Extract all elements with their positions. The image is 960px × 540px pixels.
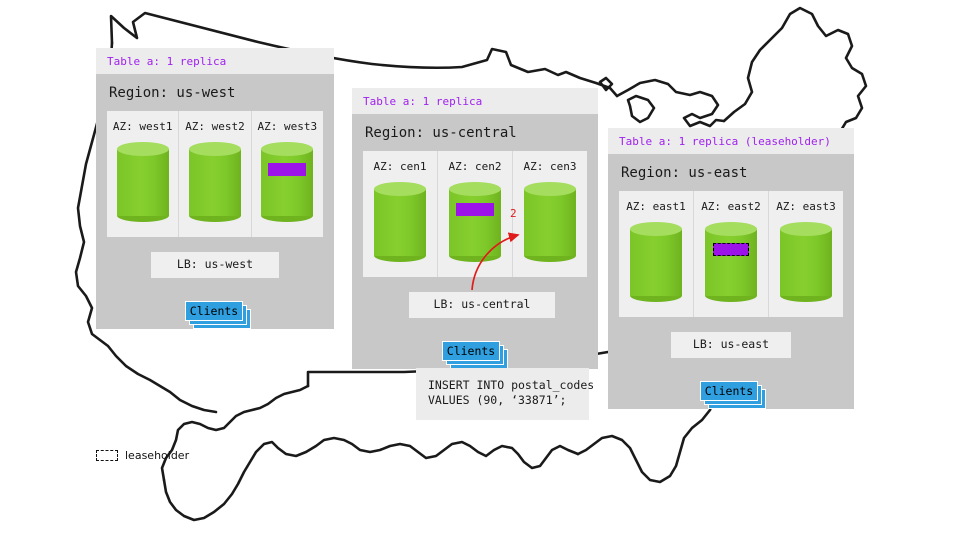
az-cell-cen2[interactable]: AZ: cen2 [438, 151, 513, 277]
region-panel-us-east: Table a: 1 replica (leaseholder) Region:… [608, 128, 854, 409]
cylinder-body [705, 229, 757, 296]
leaseholder-marker-east2 [713, 243, 749, 256]
az-cell-cen3[interactable]: AZ: cen3 [513, 151, 587, 277]
az-label: AZ: cen3 [513, 160, 587, 173]
cylinder-top [705, 222, 757, 236]
cylinder-body [117, 149, 169, 216]
az-strip-us-east: AZ: east1 AZ: east2 [619, 191, 843, 317]
node-cylinder-west2[interactable] [189, 142, 241, 222]
region-title: Region: us-central [352, 114, 598, 151]
arrow-step-label: 2 [510, 208, 517, 219]
az-label: AZ: east3 [769, 200, 843, 213]
az-strip-us-west: AZ: west1 AZ: west2 AZ [107, 111, 323, 237]
clients-button-us-west[interactable]: Clients [185, 301, 251, 329]
clients-button-us-central[interactable]: Clients [442, 341, 508, 369]
clients-button-us-east[interactable]: Clients [700, 381, 766, 409]
node-cylinder-east1[interactable] [630, 222, 682, 302]
cylinder-top [524, 182, 576, 196]
lb-label: LB: us-central [434, 299, 531, 311]
az-label: AZ: east1 [619, 200, 693, 213]
load-balancer-us-central[interactable]: LB: us-central [409, 292, 555, 318]
diagram-canvas: leaseholder Table a: 1 replica Region: u… [0, 0, 960, 540]
panel-header-us-west: Table a: 1 replica [96, 48, 334, 74]
cylinder-top [189, 142, 241, 156]
az-label: AZ: cen2 [438, 160, 512, 173]
az-label: AZ: cen1 [363, 160, 437, 173]
az-label: AZ: west1 [107, 120, 178, 133]
node-cylinder-west1[interactable] [117, 142, 169, 222]
cylinder-top [780, 222, 832, 236]
region-title: Region: us-east [608, 154, 854, 191]
cylinder-top [261, 142, 313, 156]
az-cell-east3[interactable]: AZ: east3 [769, 191, 843, 317]
cylinder-top [117, 142, 169, 156]
node-cylinder-west3[interactable] [261, 142, 313, 222]
table-replica-label: Table a: 1 replica [363, 95, 587, 108]
cylinder-body [524, 189, 576, 256]
legend: leaseholder [96, 450, 189, 461]
node-cylinder-east2[interactable] [705, 222, 757, 302]
az-cell-cen1[interactable]: AZ: cen1 [363, 151, 438, 277]
cylinder-body [189, 149, 241, 216]
az-cell-west3[interactable]: AZ: west3 [252, 111, 323, 237]
lb-label: LB: us-west [177, 259, 253, 271]
panel-body-us-east: Region: us-east AZ: east1 AZ: east2 [608, 154, 854, 409]
load-balancer-us-east[interactable]: LB: us-east [671, 332, 791, 358]
cylinder-top [449, 182, 501, 196]
cylinder-top [374, 182, 426, 196]
dashed-rect-icon [96, 450, 118, 461]
region-panel-us-west: Table a: 1 replica Region: us-west AZ: w… [96, 48, 334, 329]
lb-label: LB: us-east [693, 339, 769, 351]
az-label: AZ: west2 [179, 120, 250, 133]
node-cylinder-east3[interactable] [780, 222, 832, 302]
region-title: Region: us-west [96, 74, 334, 111]
az-cell-west1[interactable]: AZ: west1 [107, 111, 179, 237]
table-replica-label: Table a: 1 replica (leaseholder) [619, 135, 843, 148]
az-cell-east2[interactable]: AZ: east2 [694, 191, 769, 317]
az-cell-west2[interactable]: AZ: west2 [179, 111, 251, 237]
az-label: AZ: west3 [252, 120, 323, 133]
node-cylinder-cen3[interactable] [524, 182, 576, 262]
cylinder-body [449, 189, 501, 256]
panel-body-us-west: Region: us-west AZ: west1 AZ: west2 [96, 74, 334, 329]
cylinder-body [261, 149, 313, 216]
cylinder-body [780, 229, 832, 296]
panel-header-us-central: Table a: 1 replica [352, 88, 598, 114]
panel-body-us-central: Region: us-central AZ: cen1 AZ: cen2 [352, 114, 598, 369]
az-cell-east1[interactable]: AZ: east1 [619, 191, 694, 317]
table-replica-label: Table a: 1 replica [107, 55, 323, 68]
clients-label[interactable]: Clients [700, 381, 758, 401]
legend-label: leaseholder [125, 450, 189, 461]
clients-label[interactable]: Clients [185, 301, 243, 321]
replica-marker-west3 [268, 163, 306, 176]
cylinder-body [630, 229, 682, 296]
clients-label[interactable]: Clients [442, 341, 500, 361]
sql-statement-note: INSERT INTO postal_codes VALUES (90, ‘33… [416, 368, 589, 420]
panel-header-us-east: Table a: 1 replica (leaseholder) [608, 128, 854, 154]
node-cylinder-cen2[interactable] [449, 182, 501, 262]
az-label: AZ: east2 [694, 200, 768, 213]
region-panel-us-central: Table a: 1 replica Region: us-central AZ… [352, 88, 598, 369]
az-strip-us-central: AZ: cen1 AZ: cen2 [363, 151, 587, 277]
replica-marker-cen2 [456, 203, 494, 216]
load-balancer-us-west[interactable]: LB: us-west [151, 252, 279, 278]
cylinder-top [630, 222, 682, 236]
node-cylinder-cen1[interactable] [374, 182, 426, 262]
cylinder-body [374, 189, 426, 256]
